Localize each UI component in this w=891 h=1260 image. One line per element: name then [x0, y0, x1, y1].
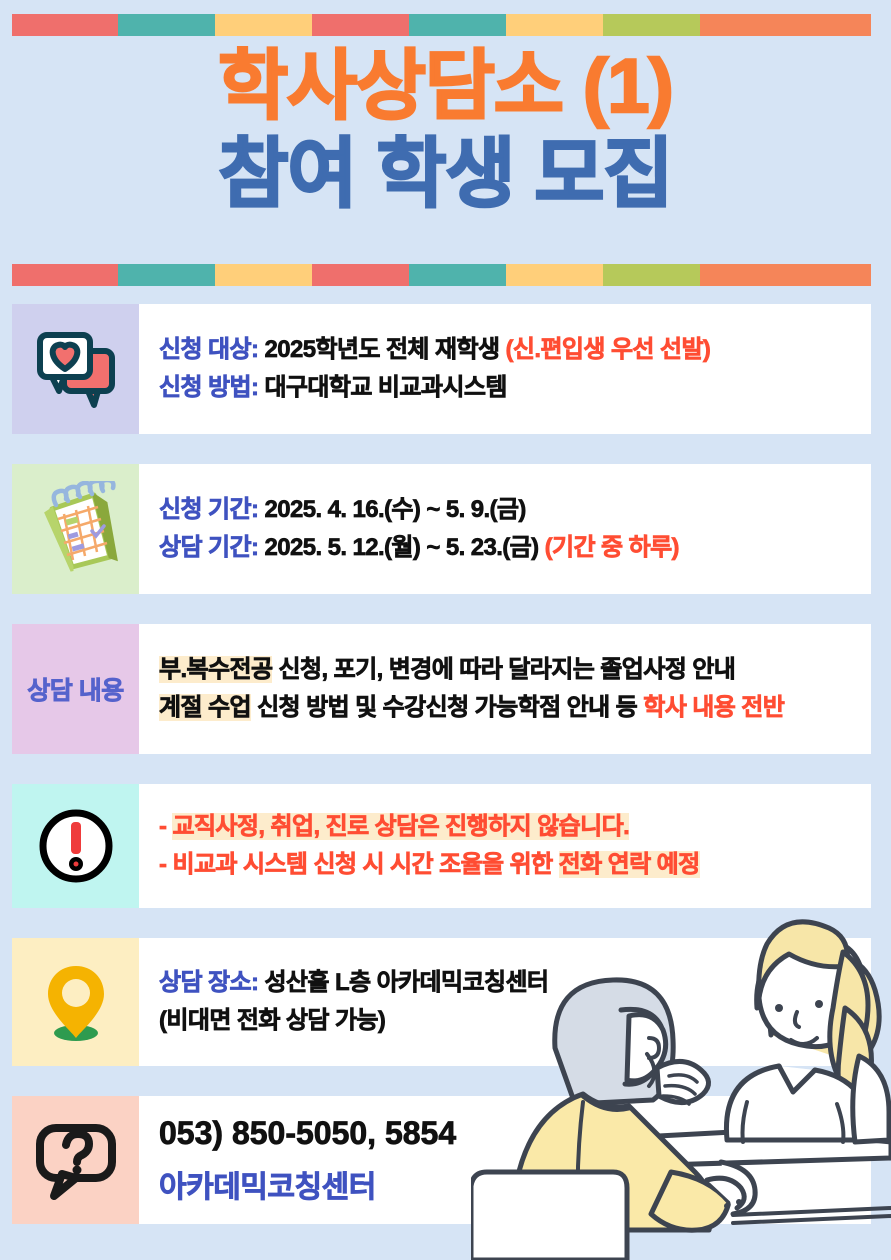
place-row-line-2: (비대면 전화 상담 가능) — [159, 1007, 855, 1035]
stripe-segment-3 — [215, 14, 312, 36]
content-row: 상담 내용부.복수전공 신청, 포기, 변경에 따라 달라지는 졸업사정 안내계… — [12, 624, 871, 754]
contact-row-line-2-seg-1: 아카데믹코칭센터 — [159, 1171, 376, 1204]
top-stripe-bar — [12, 14, 871, 36]
period-row-line-2-seg-1: 상담 기간: — [159, 534, 264, 561]
notice-row-line-2-seg-2: 비교과 시스템 신청 시 시간 조율을 위한 — [172, 851, 558, 878]
place-row: 상담 장소: 성산홀 L층 아카데믹코칭센터(비대면 전화 상담 가능) — [12, 938, 871, 1066]
period-row-line-1-seg-1: 신청 기간: — [159, 496, 264, 523]
stripe-segment-7 — [603, 264, 700, 286]
period-row-body: 신청 기간: 2025. 4. 16.(수) ~ 5. 9.(금)상담 기간: … — [139, 464, 871, 594]
location-pin-icon — [28, 954, 124, 1050]
poster-root: 학사상담소 (1) 참여 학생 모집 신청 대상: 2025학년도 전체 재학생… — [0, 0, 891, 1260]
notice-row-line-2: - 비교과 시스템 신청 시 시간 조율을 위한 전화 연락 예정 — [159, 851, 855, 879]
content-row-line-1-seg-1: 부.복수전공 — [159, 656, 272, 683]
place-row-line-2-seg-1: (비대면 전화 상담 가능) — [159, 1007, 385, 1034]
notice-row-line-1: - 교직사정, 취업, 진로 상담은 진행하지 않습니다. — [159, 813, 855, 841]
calendar-icon-cell — [12, 464, 139, 594]
stripe-segment-4 — [312, 14, 409, 36]
period-row-line-2-seg-3: (기간 중 하루) — [545, 534, 679, 561]
stripe-segment-1 — [12, 264, 118, 286]
stripe-segment-7 — [603, 14, 700, 36]
stripe-segment-1 — [12, 14, 118, 36]
consult-content-label-cell: 상담 내용 — [12, 624, 139, 754]
contact-row-body: 053) 850-5050, 5854아카데믹코칭센터 — [139, 1096, 871, 1224]
question-bubble-icon-cell — [12, 1096, 139, 1224]
notice-row-line-1-seg-1: - — [159, 813, 172, 840]
period-row-line-2: 상담 기간: 2025. 5. 12.(월) ~ 5. 23.(금) (기간 중… — [159, 534, 855, 562]
stripe-segment-8 — [700, 264, 871, 286]
notice-row-body: - 교직사정, 취업, 진로 상담은 진행하지 않습니다.- 비교과 시스템 신… — [139, 784, 871, 908]
poster-title: 학사상담소 (1) 참여 학생 모집 — [0, 48, 891, 213]
stripe-segment-5 — [409, 14, 506, 36]
target-row-body: 신청 대상: 2025학년도 전체 재학생 (신.편입생 우선 선발)신청 방법… — [139, 304, 871, 434]
target-row-line-2-seg-1: 신청 방법: — [159, 374, 264, 401]
chat-heart-icon — [28, 321, 124, 417]
content-row-line-2-seg-1: 계절 수업 — [159, 694, 251, 721]
contact-row-line-2: 아카데믹코칭센터 — [159, 1162, 855, 1206]
period-row: 신청 기간: 2025. 4. 16.(수) ~ 5. 9.(금)상담 기간: … — [12, 464, 871, 594]
target-row-line-1-seg-3: (신.편입생 우선 선발) — [506, 336, 711, 363]
target-row-line-1-seg-1: 신청 대상: — [159, 336, 264, 363]
stripe-segment-8 — [700, 14, 871, 36]
stripe-segment-4 — [312, 264, 409, 286]
period-row-line-1-seg-2: 2025. 4. 16.(수) ~ 5. 9.(금) — [264, 496, 525, 523]
content-row-line-2-seg-3: 학사 내용 전반 — [643, 694, 784, 721]
contact-row: 053) 850-5050, 5854아카데믹코칭센터 — [12, 1096, 871, 1224]
notice-row: - 교직사정, 취업, 진로 상담은 진행하지 않습니다.- 비교과 시스템 신… — [12, 784, 871, 908]
place-row-line-1-seg-1: 상담 장소: — [159, 969, 264, 996]
target-row-line-1-seg-2: 2025학년도 전체 재학생 — [264, 336, 505, 363]
stripe-segment-5 — [409, 264, 506, 286]
target-row-line-2-seg-2: 대구대학교 비교과시스템 — [264, 374, 506, 401]
notice-row-line-1-seg-2: 교직사정, 취업, 진로 상담은 진행하지 않습니다. — [172, 813, 629, 840]
stripe-segment-3 — [215, 264, 312, 286]
stripe-segment-6 — [506, 14, 603, 36]
contact-row-line-1-seg-1: 053) 850-5050, 5854 — [159, 1115, 456, 1151]
content-row-line-2-seg-2: 신청 방법 및 수강신청 가능학점 안내 등 — [251, 694, 643, 721]
chat-heart-icon-cell — [12, 304, 139, 434]
place-row-line-1: 상담 장소: 성산홀 L층 아카데믹코칭센터 — [159, 969, 855, 997]
bottom-stripe-bar — [12, 264, 871, 286]
content-row-line-2: 계절 수업 신청 방법 및 수강신청 가능학점 안내 등 학사 내용 전반 — [159, 694, 855, 722]
contact-row-line-1: 053) 850-5050, 5854 — [159, 1115, 855, 1152]
place-row-line-1-seg-2: 성산홀 L층 아카데믹코칭센터 — [264, 969, 548, 996]
content-row-line-1: 부.복수전공 신청, 포기, 변경에 따라 달라지는 졸업사정 안내 — [159, 656, 855, 684]
title-line-1: 학사상담소 (1) — [0, 48, 891, 126]
target-row-line-1: 신청 대상: 2025학년도 전체 재학생 (신.편입생 우선 선발) — [159, 336, 855, 364]
period-row-line-2-seg-2: 2025. 5. 12.(월) ~ 5. 23.(금) — [264, 534, 544, 561]
consult-content-label: 상담 내용 — [27, 671, 123, 707]
title-line-2: 참여 학생 모집 — [0, 136, 891, 214]
calendar-icon — [28, 481, 124, 577]
notice-row-line-2-seg-1: - — [159, 851, 172, 878]
target-row: 신청 대상: 2025학년도 전체 재학생 (신.편입생 우선 선발)신청 방법… — [12, 304, 871, 434]
stripe-segment-2 — [118, 264, 215, 286]
target-row-line-2: 신청 방법: 대구대학교 비교과시스템 — [159, 374, 855, 402]
content-row-line-1-seg-2: 신청, 포기, 변경에 따라 달라지는 졸업사정 안내 — [272, 656, 735, 683]
exclamation-circle-icon — [28, 798, 124, 894]
period-row-line-1: 신청 기간: 2025. 4. 16.(수) ~ 5. 9.(금) — [159, 496, 855, 524]
place-row-body: 상담 장소: 성산홀 L층 아카데믹코칭센터(비대면 전화 상담 가능) — [139, 938, 871, 1066]
exclamation-circle-icon-cell — [12, 784, 139, 908]
notice-row-line-2-seg-3: 전화 연락 예정 — [559, 851, 700, 878]
location-pin-icon-cell — [12, 938, 139, 1066]
stripe-segment-6 — [506, 264, 603, 286]
question-bubble-icon — [28, 1112, 124, 1208]
stripe-segment-2 — [118, 14, 215, 36]
content-row-body: 부.복수전공 신청, 포기, 변경에 따라 달라지는 졸업사정 안내계절 수업 … — [139, 624, 871, 754]
